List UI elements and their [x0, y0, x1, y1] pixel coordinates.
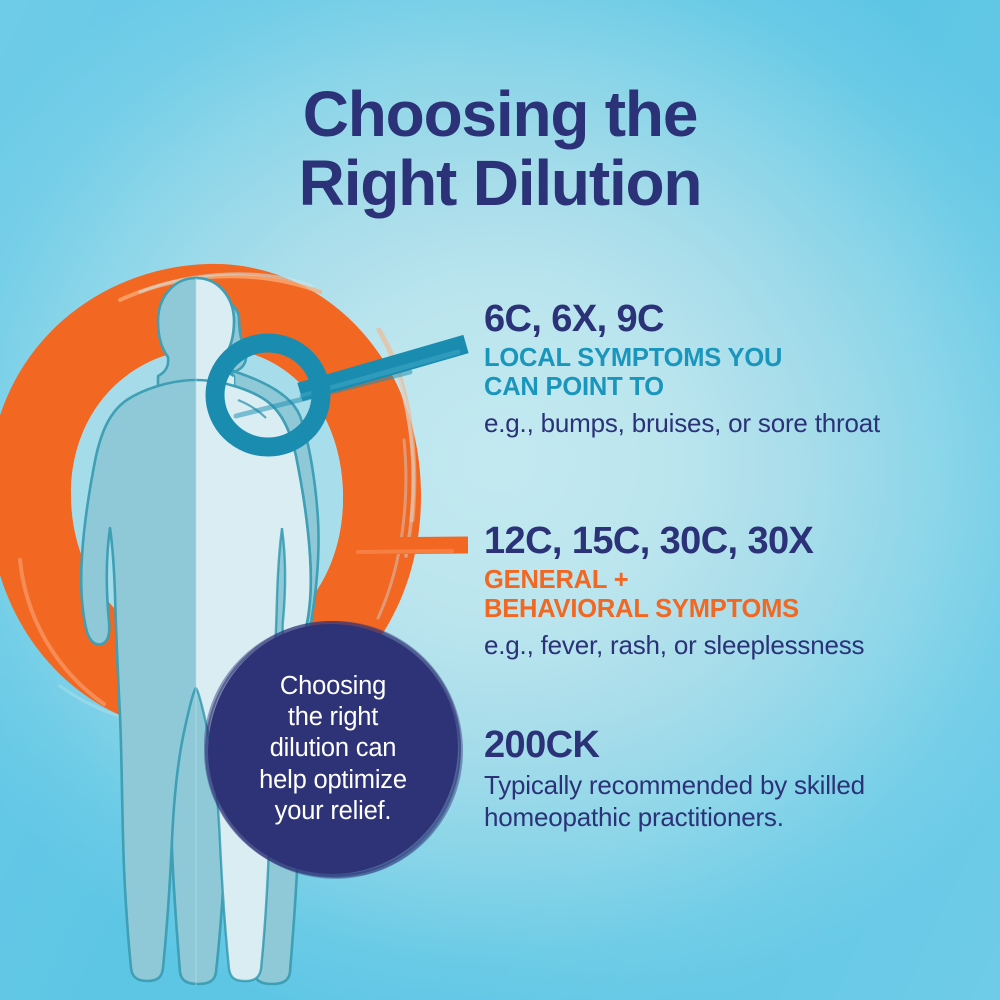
- dilution-example-1: e.g., bumps, bruises, or sore throat: [484, 408, 984, 440]
- dilution-subtitle-1-line-2: CAN POINT TO: [484, 373, 984, 402]
- badge-line-3: dilution can: [270, 733, 397, 764]
- dilution-subtitle-1: LOCAL SYMPTOMS YOU CAN POINT TO: [484, 344, 984, 402]
- dilution-dose-3: 200CK: [484, 726, 984, 764]
- dilution-example-3-line-1: Typically recommended by skilled: [484, 770, 984, 802]
- dilution-dose-2: 12C, 15C, 30C, 30X: [484, 522, 984, 560]
- badge-line-1: Choosing: [280, 671, 386, 702]
- dilution-example-3-line-2: homeopathic practitioners.: [484, 802, 984, 834]
- badge-line-4: help optimize: [259, 765, 407, 796]
- dilution-example-2-line-1: e.g., fever, rash, or sleeplessness: [484, 630, 984, 662]
- dilution-list: 6C, 6X, 9C LOCAL SYMPTOMS YOU CAN POINT …: [484, 0, 984, 1000]
- dilution-dose-1: 6C, 6X, 9C: [484, 300, 984, 338]
- dilution-subtitle-1-line-1: LOCAL SYMPTOMS YOU: [484, 344, 984, 373]
- dilution-subtitle-2-line-2: BEHAVIORAL SYMPTOMS: [484, 595, 984, 624]
- orange-brush-pointer: [352, 545, 468, 552]
- highlight-badge: Choosing the right dilution can help opt…: [208, 624, 458, 874]
- badge-line-2: the right: [288, 702, 378, 733]
- badge-text: Choosing the right dilution can help opt…: [208, 624, 458, 874]
- dilution-entry-1: 6C, 6X, 9C LOCAL SYMPTOMS YOU CAN POINT …: [484, 300, 984, 440]
- dilution-example-3: Typically recommended by skilled homeopa…: [484, 770, 984, 833]
- dilution-entry-2: 12C, 15C, 30C, 30X GENERAL + BEHAVIORAL …: [484, 522, 984, 662]
- dilution-example-2: e.g., fever, rash, or sleeplessness: [484, 630, 984, 662]
- dilution-subtitle-2-line-1: GENERAL +: [484, 566, 984, 595]
- dilution-subtitle-2: GENERAL + BEHAVIORAL SYMPTOMS: [484, 566, 984, 624]
- badge-line-5: your relief.: [275, 796, 392, 827]
- dilution-entry-3: 200CK Typically recommended by skilled h…: [484, 726, 984, 833]
- dilution-example-1-line-1: e.g., bumps, bruises, or sore throat: [484, 408, 984, 440]
